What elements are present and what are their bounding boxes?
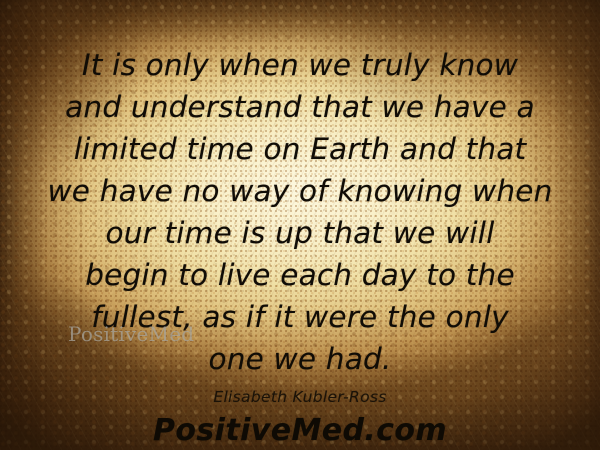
quote-line: we have no way of knowing when [20, 170, 580, 212]
quote-line: one we had. [20, 338, 580, 380]
site-branding: PositiveMed.com [153, 413, 447, 448]
poster-content: It is only when we truly know and unders… [0, 0, 600, 450]
quote-line: fullest, as if it were the only [20, 296, 580, 338]
quote-line: our time is up that we will [20, 212, 580, 254]
quote-author: Elisabeth Kubler-Ross [213, 388, 386, 406]
quote-line: and understand that we have a [20, 86, 580, 128]
quote-line: begin to live each day to the [20, 254, 580, 296]
quote-text: It is only when we truly know and unders… [20, 44, 580, 380]
quote-line: It is only when we truly know [20, 44, 580, 86]
quote-line: limited time on Earth and that [20, 128, 580, 170]
quote-poster: It is only when we truly know and unders… [0, 0, 600, 450]
